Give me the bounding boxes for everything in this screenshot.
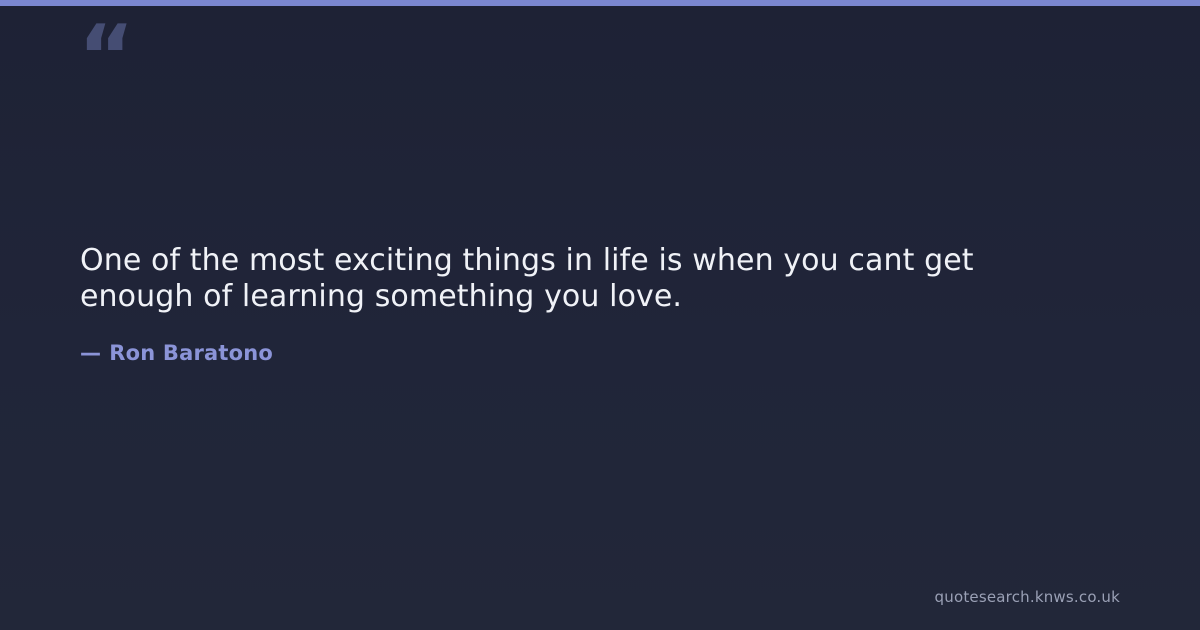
attribution-dash: — [80, 340, 101, 366]
site-url-footer: quotesearch.knws.co.uk [935, 588, 1120, 606]
quote-line-1: One of the most exciting things in life … [80, 243, 974, 278]
quote-card: “ One of the most exciting things in lif… [0, 0, 1200, 630]
top-accent-bar [0, 0, 1200, 6]
left-double-quotation-mark-icon: “ [78, 14, 133, 100]
quote-text: One of the most exciting things in life … [80, 243, 1080, 315]
attribution-author: Ron Baratono [109, 341, 273, 365]
quote-line-2: enough of learning something you love. [80, 279, 682, 314]
quote-body: One of the most exciting things in life … [80, 243, 1080, 366]
quote-attribution: —Ron Baratono [80, 340, 1080, 366]
